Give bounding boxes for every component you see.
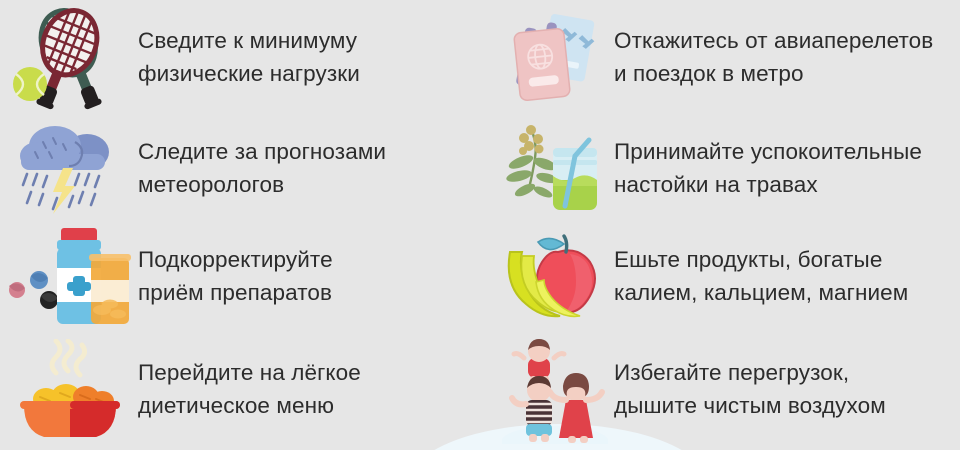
tip-item-watch-weather-forecast: Следите за прогнозами метеорологов: [0, 115, 480, 220]
tip-item-adjust-medication-intake: Подкорректируйте приём препаратов: [0, 220, 480, 332]
pill-jar: [89, 254, 131, 324]
tip-text: Следите за прогнозами метеорологов: [138, 135, 392, 201]
storm-cloud-rain-icon: [0, 115, 138, 220]
tip-item-switch-to-light-diet-menu: Перейдите на лёгкое диетическое меню: [0, 332, 480, 450]
steam-wisps: [52, 341, 85, 375]
tip-text: Сведите к минимуму физические нагрузки: [138, 24, 366, 90]
tennis-rackets-icon: [0, 0, 138, 115]
herb-sprig: [505, 125, 559, 200]
loose-pills: [9, 271, 58, 309]
cloud-shape: [20, 126, 109, 170]
tip-item-avoid-overload-breathe-clean-air: Избегайте перегрузок, дышите чистым возд…: [480, 332, 960, 450]
mason-jar: [553, 140, 597, 210]
steaming-food-bowl-icon: [0, 332, 138, 450]
children-playing-icon: [496, 332, 614, 450]
herbal-drink-jar-icon: [496, 115, 614, 220]
banana-apple-icon: [496, 220, 614, 332]
tennis-ball-icon: [13, 67, 47, 101]
tip-item-take-calming-herbal-infusions: Принимайте успокоительные настойки на тр…: [480, 115, 960, 220]
tip-item-eat-potassium-calcium-magnesium-foods: Ешьте продукты, богатые калием, кальцием…: [480, 220, 960, 332]
tip-item-reduce-physical-activity: Сведите к минимуму физические нагрузки: [0, 0, 480, 115]
tips-grid: Сведите к минимуму физические нагрузки: [0, 0, 960, 450]
tip-text: Принимайте успокоительные настойки на тр…: [614, 135, 928, 201]
infographic-poster: Сведите к минимуму физические нагрузки: [0, 0, 960, 450]
tip-text: Перейдите на лёгкое диетическое меню: [138, 356, 367, 422]
tip-text: Подкорректируйте приём препаратов: [138, 243, 339, 309]
tip-text: Откажитесь от авиаперелетов и поездок в …: [614, 24, 939, 90]
tip-text: Избегайте перегрузок, дышите чистым возд…: [614, 356, 892, 422]
bowl-shape: [20, 401, 120, 437]
medicine-bottle-pills-icon: [0, 220, 138, 332]
lightning-bolt-icon: [53, 168, 75, 214]
tip-item-avoid-air-travel: Откажитесь от авиаперелетов и поездок в …: [480, 0, 960, 115]
tip-text: Ешьте продукты, богатые калием, кальцием…: [614, 243, 914, 309]
passport-tickets-icon: [496, 0, 614, 115]
